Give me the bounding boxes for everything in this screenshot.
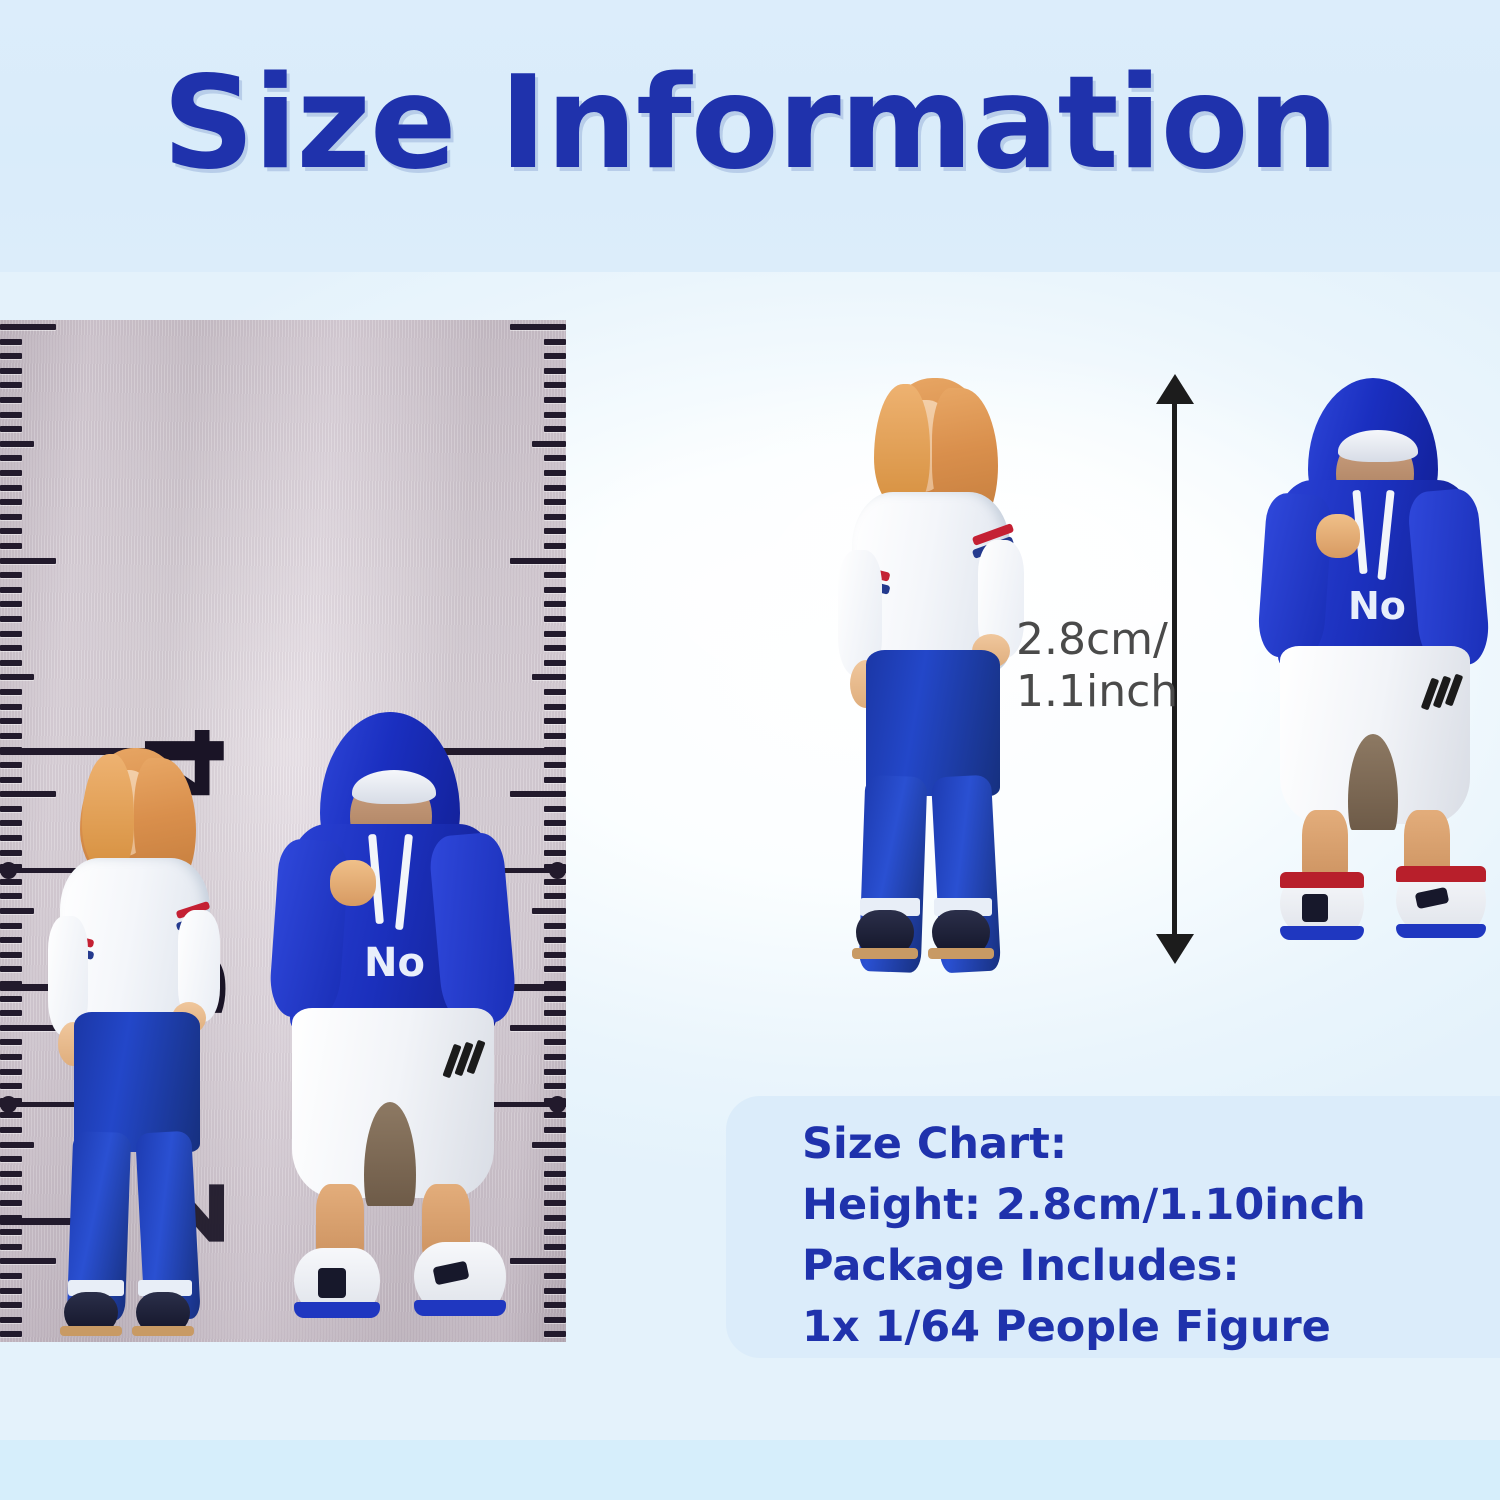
ruler-tick <box>0 397 22 403</box>
ruler-tick <box>0 324 56 330</box>
ruler-tick <box>0 733 22 739</box>
ruler-tick <box>0 762 22 768</box>
ruler-tick <box>0 441 34 447</box>
ruler-tick <box>0 426 22 432</box>
ruler-tick <box>544 1317 566 1323</box>
ruler-tick <box>0 339 22 345</box>
ruler-tick <box>0 1142 34 1148</box>
footer-band <box>0 1440 1500 1500</box>
ruler-tick <box>0 1229 22 1235</box>
ruler-tick <box>544 850 566 856</box>
ruler-tick <box>544 937 566 943</box>
ruler-tick <box>544 397 566 403</box>
page-title: Size Information <box>0 60 1500 188</box>
ruler-tick <box>544 470 566 476</box>
ruler-tick <box>0 674 34 680</box>
ruler-tick <box>0 455 22 461</box>
ruler-tick <box>0 1244 22 1250</box>
ruler-tick <box>544 382 566 388</box>
ruler-tick <box>0 996 22 1002</box>
ruler-tick <box>544 835 566 841</box>
ruler-tick <box>544 660 566 666</box>
ruler-tick <box>544 645 566 651</box>
ruler-tick <box>544 1185 566 1191</box>
hoodie-logo-text: No <box>364 940 425 986</box>
ruler-tick <box>544 1069 566 1075</box>
ruler-tick <box>0 952 22 958</box>
ruler-tick <box>0 806 22 812</box>
ruler-tick <box>544 879 566 885</box>
male-figure-closeup: No <box>1262 378 1492 960</box>
ruler-tick <box>532 908 566 914</box>
size-chart-text: Size Chart: Height: 2.8cm/1.10inch Packa… <box>802 1114 1366 1358</box>
ruler-tick <box>544 689 566 695</box>
ruler-tick <box>0 1156 22 1162</box>
ruler-tick <box>544 353 566 359</box>
ruler-tick <box>0 879 22 885</box>
ruler-tick <box>544 1331 566 1337</box>
ruler-tick <box>0 1185 22 1191</box>
ruler-tick <box>544 966 566 972</box>
ruler-tick <box>544 339 566 345</box>
ruler-tick <box>0 937 22 943</box>
ruler-tick <box>510 1258 566 1264</box>
ruler-tick <box>532 1142 566 1148</box>
ruler-tick <box>532 674 566 680</box>
ruler-tick <box>0 1171 22 1177</box>
ruler-tick <box>544 762 566 768</box>
ruler-tick <box>0 1317 22 1323</box>
ruler-tick <box>544 572 566 578</box>
ruler-tick <box>0 382 22 388</box>
male-figure-photo: No <box>268 712 518 1342</box>
ruler-tick <box>544 893 566 899</box>
ruler-tick <box>0 353 22 359</box>
ruler-tick <box>0 1302 22 1308</box>
ruler-tick <box>0 1112 22 1118</box>
ruler-tick <box>544 1273 566 1279</box>
ruler-tick <box>544 1127 566 1133</box>
ruler-tick <box>544 616 566 622</box>
ruler-tick <box>544 412 566 418</box>
ruler-tick <box>0 558 56 564</box>
ruler-tick <box>0 485 22 491</box>
ruler-tick <box>544 485 566 491</box>
ruler-tick <box>510 324 566 330</box>
ruler-tick <box>0 835 22 841</box>
ruler-tick <box>544 1288 566 1294</box>
ruler-tick <box>544 368 566 374</box>
ruler-tick <box>544 1215 566 1221</box>
size-chart-card: Size Chart: Height: 2.8cm/1.10inch Packa… <box>726 1096 1500 1358</box>
ruler-tick <box>544 718 566 724</box>
ruler-tick <box>544 777 566 783</box>
ruler-tick <box>0 1200 22 1206</box>
ruler-tick <box>0 587 22 593</box>
ruler-tick <box>544 820 566 826</box>
ruler-tick <box>0 1331 22 1337</box>
ruler-tick <box>0 850 22 856</box>
ruler-tick <box>544 631 566 637</box>
ruler-tick <box>0 1054 22 1060</box>
ruler-tick <box>0 908 34 914</box>
ruler-tick <box>544 499 566 505</box>
ruler-tick <box>0 368 22 374</box>
ruler-tick <box>544 528 566 534</box>
ruler-tick <box>0 1273 22 1279</box>
female-figure-closeup <box>836 372 1026 960</box>
ruler-tick <box>0 631 22 637</box>
ruler-tick <box>544 514 566 520</box>
ruler-tick <box>544 1229 566 1235</box>
ruler-tick <box>0 923 22 929</box>
ruler-tick <box>0 470 22 476</box>
ruler-tick <box>544 1010 566 1016</box>
ruler-tick <box>0 601 22 607</box>
ruler-tick <box>0 514 22 520</box>
ruler-photo: 4 3 2 1 0.5mm <box>0 320 566 1342</box>
ruler-tick <box>544 1156 566 1162</box>
ruler-tick <box>544 543 566 549</box>
ruler-tick <box>544 587 566 593</box>
ruler-tick <box>544 1054 566 1060</box>
ruler-tick <box>544 806 566 812</box>
ruler-tick <box>544 1171 566 1177</box>
ruler-tick <box>0 893 22 899</box>
ruler-tick <box>0 1039 22 1045</box>
ruler-tick <box>0 1083 22 1089</box>
ruler-tick <box>544 1244 566 1250</box>
dimension-label: 2.8cm/ 1.1inch <box>1016 614 1176 718</box>
ruler-tick <box>544 1039 566 1045</box>
ruler-tick <box>0 645 22 651</box>
ruler-tick <box>0 412 22 418</box>
ruler-tick <box>0 616 22 622</box>
ruler-tick <box>0 704 22 710</box>
ruler-tick <box>544 1083 566 1089</box>
ruler-tick <box>0 1069 22 1075</box>
ruler-tick <box>0 543 22 549</box>
ruler-tick <box>544 1200 566 1206</box>
ruler-tick <box>0 660 22 666</box>
ruler-tick <box>544 704 566 710</box>
ruler-tick <box>0 1127 22 1133</box>
arrow-head-down-icon <box>1156 934 1194 964</box>
ruler-tick <box>0 499 22 505</box>
ruler-tick <box>544 996 566 1002</box>
ruler-tick <box>532 441 566 447</box>
ruler-tick <box>0 966 22 972</box>
ruler-tick <box>510 791 566 797</box>
ruler-tick <box>0 689 22 695</box>
ruler-tick <box>0 820 22 826</box>
ruler-tick <box>544 952 566 958</box>
ruler-tick <box>544 426 566 432</box>
ruler-tick <box>510 558 566 564</box>
ruler-tick <box>0 777 22 783</box>
ruler-tick <box>544 601 566 607</box>
ruler-tick <box>510 1025 566 1031</box>
ruler-tick <box>0 1010 22 1016</box>
ruler-tick <box>544 1302 566 1308</box>
female-figure-photo <box>30 740 250 1340</box>
ruler-tick <box>544 733 566 739</box>
ruler-tick <box>0 1288 22 1294</box>
ruler-tick <box>0 572 22 578</box>
ruler-tick <box>0 718 22 724</box>
ruler-tick <box>544 1112 566 1118</box>
ruler-tick <box>0 528 22 534</box>
ruler-tick <box>544 455 566 461</box>
ruler-tick <box>544 923 566 929</box>
hoodie-logo-text-large: No <box>1348 584 1406 628</box>
product-size-information-image: Size Information 4 3 2 1 0.5mm <box>0 0 1500 1500</box>
